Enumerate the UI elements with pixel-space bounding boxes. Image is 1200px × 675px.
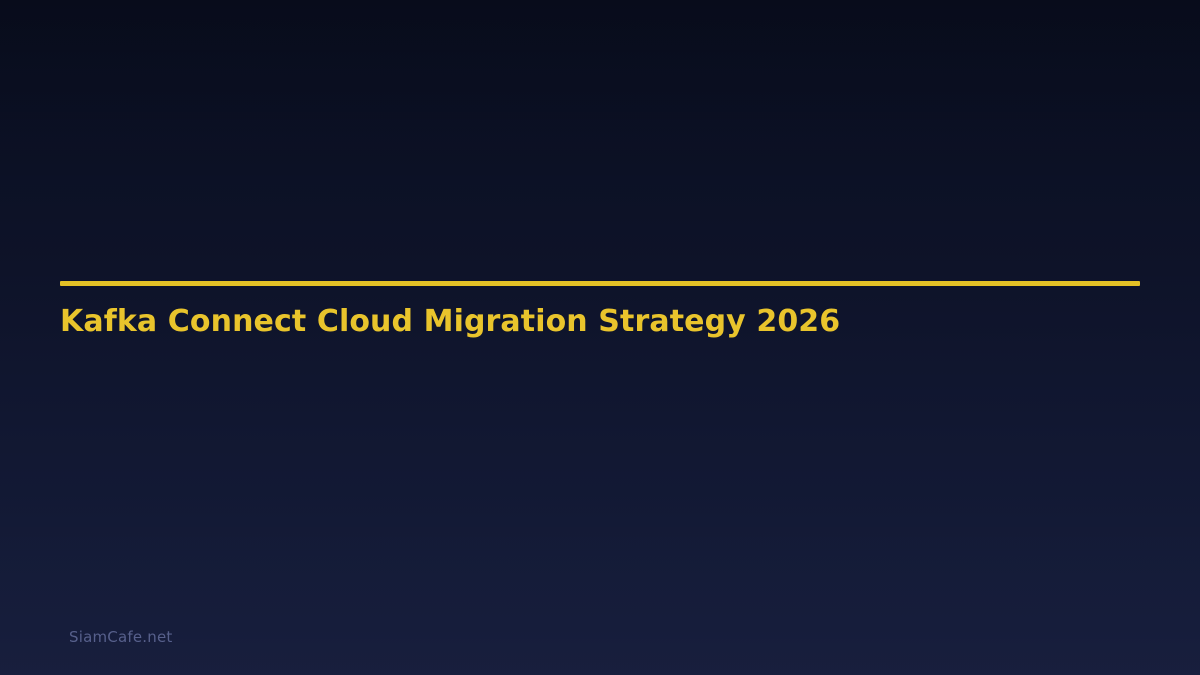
watermark-label: SiamCafe.net (69, 630, 172, 645)
title-block: Kafka Connect Cloud Migration Strategy 2… (60, 281, 1140, 340)
page-title: Kafka Connect Cloud Migration Strategy 2… (60, 286, 1140, 340)
title-slide: Kafka Connect Cloud Migration Strategy 2… (0, 0, 1200, 675)
